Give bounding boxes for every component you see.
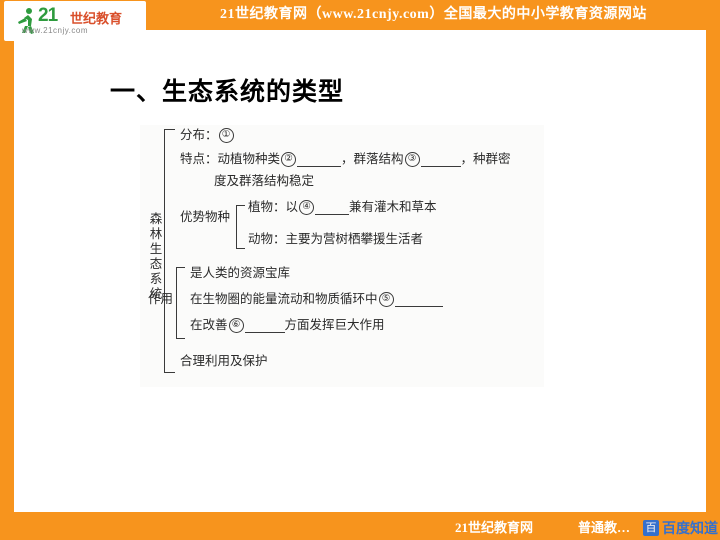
answer-line xyxy=(245,320,285,333)
row-text-tail: ，种群密 xyxy=(461,151,511,166)
diagram-row-animals: 动物：主要为营树栖攀援生活者 xyxy=(248,231,423,246)
header-banner-text: 21世纪教育网（www.21cnjy.com）全国最大的中小学教育资源网站 xyxy=(220,4,710,26)
diagram-row-resource: 是人类的资源宝库 xyxy=(190,265,290,280)
baidu-icon: 百 xyxy=(643,520,659,536)
answer-line xyxy=(395,294,443,307)
diagram-row-dominant-species: 优势物种 xyxy=(180,209,230,224)
footer-site-name: 21世纪教育网 xyxy=(455,517,533,536)
function-brace xyxy=(176,267,185,339)
row-text-tail: 方面发挥巨大作用 xyxy=(285,317,385,332)
diagram-row-distribution: 分布：① xyxy=(180,127,235,143)
watermark: 百 百度知道 xyxy=(643,518,718,538)
blank-number-4: ④ xyxy=(299,200,314,215)
blank-number-2: ② xyxy=(281,152,296,167)
logo-number: 21 xyxy=(38,5,57,27)
answer-line xyxy=(297,154,341,167)
page-title: 一、生态系统的类型 xyxy=(110,72,344,108)
footer-secondary-text: 普通教… xyxy=(578,517,630,536)
blank-number-6: ⑥ xyxy=(229,318,244,333)
row-text-mid: ，群落结构 xyxy=(341,151,404,166)
row-text: 在生物圈的能量流动和物质循环中 xyxy=(190,291,378,306)
row-text: 植物：以 xyxy=(248,199,298,214)
diagram-row-improvement: 在改善⑥方面发挥巨大作用 xyxy=(190,317,385,333)
row-text: 在改善 xyxy=(190,317,228,332)
site-logo: 21 世纪教育 www.21cnjy.com xyxy=(4,1,146,41)
row-text: 分布： xyxy=(180,127,218,142)
diagram-row-protection: 合理利用及保护 xyxy=(180,353,268,368)
logo-url-text: www.21cnjy.com xyxy=(22,26,88,35)
logo-cn-text: 世纪教育 xyxy=(70,8,122,27)
watermark-text: 百度知道 xyxy=(662,518,718,538)
row-text-tail: 兼有灌木和草本 xyxy=(349,199,437,214)
blank-number-5: ⑤ xyxy=(379,292,394,307)
diagram-row-function-label: 作用 xyxy=(148,291,173,306)
answer-line xyxy=(315,202,349,215)
dominant-species-brace xyxy=(236,205,245,249)
answer-line xyxy=(421,154,461,167)
diagram-row-plants: 植物：以④兼有灌木和草本 xyxy=(248,199,437,215)
frame-right-band xyxy=(706,0,720,540)
diagram-row-energy-flow: 在生物圈的能量流动和物质循环中⑤ xyxy=(190,291,443,307)
diagram-row-features: 特点：动植物种类②，群落结构③，种群密 xyxy=(180,151,511,167)
blank-number-1: ① xyxy=(219,128,234,143)
blank-number-3: ③ xyxy=(405,152,420,167)
frame-left-band xyxy=(0,0,14,540)
concept-diagram: 森林生态系统 分布：① 特点：动植物种类②，群落结构③，种群密 度及群落结构稳定… xyxy=(140,125,544,387)
outer-brace xyxy=(164,129,175,373)
slide-canvas: 21 世纪教育 www.21cnjy.com 21世纪教育网（www.21cnj… xyxy=(0,0,720,540)
diagram-row-features-cont: 度及群落结构稳定 xyxy=(214,173,314,188)
row-text: 特点：动植物种类 xyxy=(180,151,280,166)
diagram-category-label: 森林生态系统 xyxy=(148,211,164,301)
